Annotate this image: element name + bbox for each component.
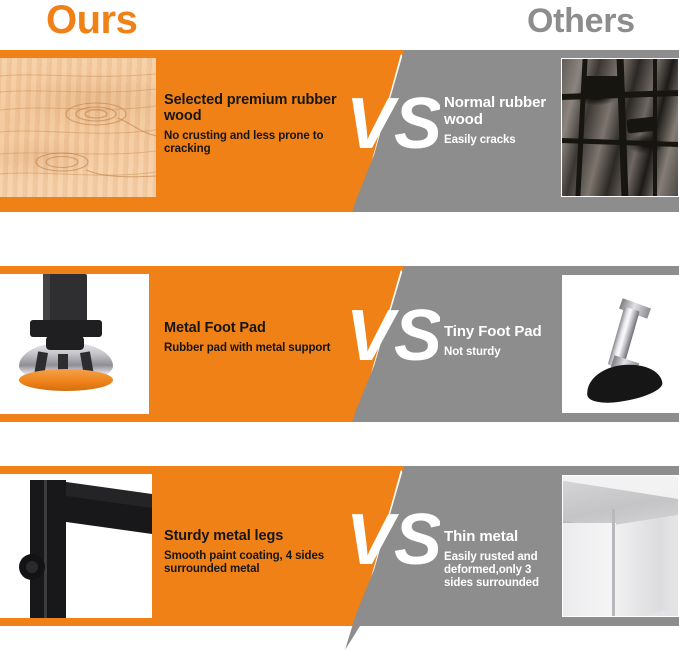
header-ours-label: Ours [46, 0, 137, 43]
image-sturdy-metal-legs [0, 474, 152, 618]
others-text-2: Tiny Foot Pad Not sturdy [444, 323, 556, 359]
comparison-row-2: VS Metal Foot Pad Rubber pad with metal … [0, 266, 679, 422]
ours-text-3: Sturdy metal legs Smooth paint coating, … [164, 528, 344, 576]
metal-left-side [562, 523, 616, 617]
vs-badge-1: VS [348, 86, 440, 169]
header: Ours Others [0, 0, 679, 50]
comparison-infographic: Ours Others [0, 0, 679, 650]
mount-plate [30, 320, 102, 337]
wood-grain-lines [0, 58, 156, 197]
ours-subtitle-3: Smooth paint coating, 4 sides surrounded… [164, 550, 344, 576]
comparison-row-3: VS Sturdy metal legs Smooth paint coatin… [0, 466, 679, 626]
metal-corner-edge [612, 509, 615, 617]
vs-label: VS [348, 86, 440, 164]
comparison-row-1: VS Selected premium rubber wood No crust… [0, 50, 679, 212]
ours-title-2: Metal Foot Pad [164, 320, 339, 336]
vs-icon: VS [348, 298, 440, 376]
others-text-1: Normal rubber wood Easily cracks [444, 94, 556, 147]
pad-center-bolt [46, 336, 84, 350]
others-subtitle-3: Easily rusted and deformed,only 3 sides … [444, 551, 562, 590]
others-text-3: Thin metal Easily rusted and deformed,on… [444, 528, 562, 590]
rubber-base [584, 360, 664, 406]
others-subtitle-2: Not sturdy [444, 346, 556, 359]
crack-hole [583, 76, 619, 94]
others-title-3: Thin metal [444, 528, 562, 545]
ours-title-1: Selected premium rubber wood [164, 92, 339, 124]
vs-label: VS [348, 298, 440, 376]
ours-text-2: Metal Foot Pad Rubber pad with metal sup… [164, 320, 339, 355]
image-thin-metal-corner [562, 475, 679, 617]
metal-front-side [614, 513, 679, 617]
image-metal-foot-pad [0, 274, 149, 414]
vs-badge-2: VS [348, 298, 440, 381]
image-cracked-rubber-wood [561, 58, 679, 197]
image-premium-rubber-wood [0, 58, 156, 197]
orange-rubber-ring [19, 369, 113, 391]
ours-subtitle-2: Rubber pad with metal support [164, 342, 339, 355]
others-title-2: Tiny Foot Pad [444, 323, 556, 340]
others-title-1: Normal rubber wood [444, 94, 556, 128]
vertical-leg-face [52, 480, 66, 618]
ours-subtitle-1: No crusting and less prone to cracking [164, 130, 339, 156]
knob-center [26, 561, 38, 573]
vs-icon: VS [348, 86, 440, 164]
adjustment-knob [19, 554, 45, 580]
ours-title-3: Sturdy metal legs [164, 528, 344, 544]
vs-badge-3: VS [348, 502, 440, 585]
vs-label: VS [348, 502, 440, 580]
others-subtitle-1: Easily cracks [444, 134, 556, 147]
vs-icon: VS [348, 502, 440, 580]
header-others-label: Others [527, 2, 635, 41]
leg-edge-highlight [44, 480, 47, 618]
image-tiny-foot-pad [562, 275, 679, 413]
ours-text-1: Selected premium rubber wood No crusting… [164, 92, 339, 156]
